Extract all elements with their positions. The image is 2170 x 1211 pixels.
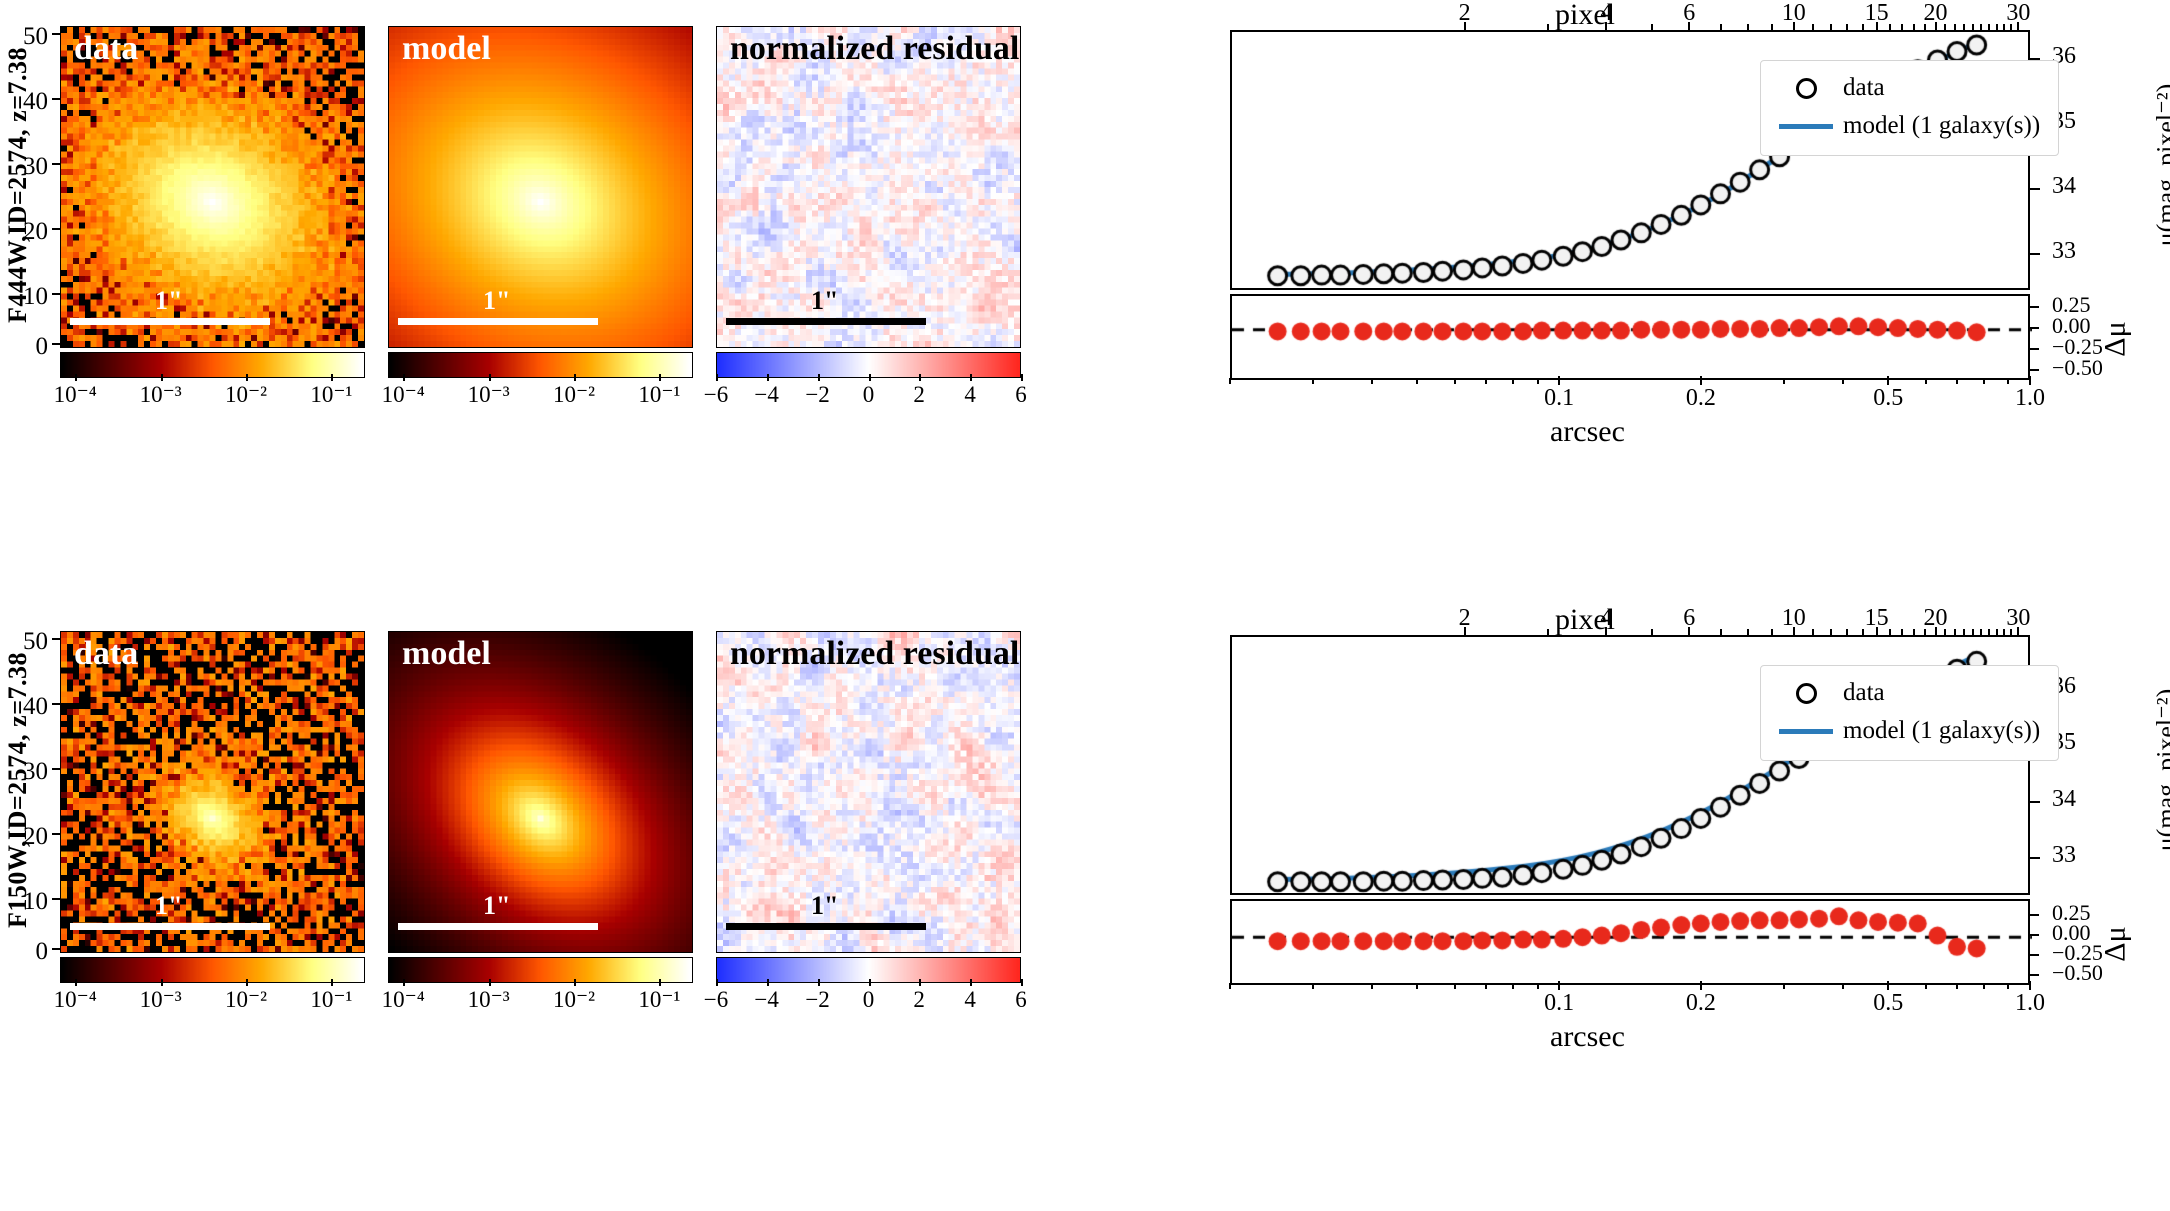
mu-tickmark xyxy=(2030,801,2040,803)
arcsec-minor-tickmark xyxy=(1887,983,1889,989)
arcsec-minor-tickmark xyxy=(1558,983,1560,989)
residual-y-axis-label-f444w: Δμ xyxy=(2099,321,2133,356)
scalebar-label-model-2: 1" xyxy=(483,891,510,921)
arcsec-minor-tickmark xyxy=(1558,378,1560,384)
arcsec-minor-tickmark xyxy=(1700,378,1702,384)
arcsec-minor-tickmark xyxy=(1371,983,1373,989)
colorbar-model-ticks-f444w: 10⁻⁴ 10⁻³ 10⁻² 10⁻¹ xyxy=(388,382,693,416)
arcsec-minor-tickmark xyxy=(2007,378,2009,384)
arcsec-tick-0.2: 0.2 xyxy=(1686,385,1716,412)
ytick-0: 0 xyxy=(2,333,48,361)
colorbar-tickmark xyxy=(574,979,576,986)
arcsec-minor-tickmark xyxy=(1454,983,1456,989)
model-image-panel-f150w[interactable] xyxy=(388,631,693,953)
profile-bottom-axis-label-f444w: arcsec xyxy=(1550,415,1625,449)
colorbar-data-f444w xyxy=(60,352,365,378)
dmu-tickmark xyxy=(2030,327,2039,329)
arcsec-tick-1: 1.0 xyxy=(2015,990,2045,1017)
residual-plot-f444w[interactable] xyxy=(1230,294,2030,380)
ytick2-0: 0 xyxy=(2,938,48,966)
dmu-tickmark xyxy=(2030,974,2039,976)
arcsec-tick-0.5: 0.5 xyxy=(1873,385,1903,412)
arcsec-minor-tickmark xyxy=(1983,983,1985,989)
colorbar-tickmark xyxy=(75,979,77,986)
colorbar-tickmark xyxy=(818,374,820,381)
colorbar-tickmark xyxy=(716,374,718,381)
scalebar-residual-2 xyxy=(726,923,926,930)
arcsec-tick-1: 1.0 xyxy=(2015,385,2045,412)
arcsec-minor-tickmark xyxy=(2007,983,2009,989)
colorbar-data-f150w xyxy=(60,957,365,983)
ytick2-40: 40 xyxy=(2,693,48,721)
line-swatch-icon xyxy=(1775,124,1837,129)
mu-tick-33: 33 xyxy=(2052,238,2076,265)
residual-plot-f150w[interactable] xyxy=(1230,899,2030,985)
residual-y-axis-label-f150w: Δμ xyxy=(2099,926,2133,961)
colorbar-tickmark xyxy=(489,979,491,986)
colorbar-tickmark xyxy=(919,374,921,381)
scalebar-label-residual: 1" xyxy=(811,286,838,316)
scalebar-residual xyxy=(726,318,926,325)
profile-legend-f150w: data model (1 galaxy(s)) xyxy=(1760,665,2059,761)
profile-y-axis-label-f444w: μ(mag, pixel⁻²) xyxy=(2151,84,2170,247)
arcsec-minor-tickmark xyxy=(1416,378,1418,384)
arcsec-minor-tickmark xyxy=(1956,378,1958,384)
ytick-40: 40 xyxy=(2,88,48,116)
dmu-tickmark xyxy=(2030,934,2039,936)
scalebar-label-data-2: 1" xyxy=(155,891,182,921)
mu-tick-33: 33 xyxy=(2052,842,2076,869)
data-panel-title: data xyxy=(74,30,138,68)
open-circle-icon xyxy=(1775,683,1837,704)
colorbar-tickmark xyxy=(489,374,491,381)
mu-tickmark xyxy=(2030,857,2040,859)
arcsec-minor-tickmark xyxy=(1887,378,1889,384)
arcsec-minor-tickmark xyxy=(1783,378,1785,384)
colorbar-tickmark xyxy=(75,374,77,381)
legend-item-model-2: model (1 galaxy(s)) xyxy=(1775,712,2040,750)
arcsec-minor-tickmark xyxy=(1956,983,1958,989)
colorbar-tickmark xyxy=(403,374,405,381)
arcsec-minor-tickmark xyxy=(1783,983,1785,989)
arcsec-minor-tickmark xyxy=(1485,983,1487,989)
arcsec-minor-tickmark xyxy=(1925,378,1927,384)
colorbar-tickmark xyxy=(818,979,820,986)
scalebar-model-2 xyxy=(398,923,598,930)
colorbar-residual-ticks-f444w: −6 −4 −2 0 2 4 6 xyxy=(716,382,1021,416)
legend-item-data: data xyxy=(1775,69,2040,107)
ytick2-20: 20 xyxy=(2,823,48,851)
colorbar-tickmark xyxy=(919,979,921,986)
arcsec-tick-0.1: 0.1 xyxy=(1544,990,1574,1017)
arcsec-minor-tickmark xyxy=(2029,983,2031,989)
dmu-tickmark xyxy=(2030,954,2039,956)
arcsec-minor-tickmark xyxy=(1925,983,1927,989)
arcsec-minor-tickmark xyxy=(1842,378,1844,384)
colorbar-tickmark xyxy=(246,374,248,381)
arcsec-minor-tickmark xyxy=(1229,983,1231,989)
dmu-tick-−0.50: −0.50 xyxy=(2052,355,2103,381)
residual-image-panel-f444w[interactable] xyxy=(716,26,1021,348)
colorbar-model-f444w xyxy=(388,352,693,378)
model-image-panel-f444w[interactable] xyxy=(388,26,693,348)
colorbar-tickmark xyxy=(246,979,248,986)
colorbar-data-ticks-f150w: 10⁻⁴ 10⁻³ 10⁻² 10⁻¹ xyxy=(60,987,365,1021)
dmu-tick-−0.50: −0.50 xyxy=(2052,960,2103,986)
colorbar-residual-ticks-f150w: −6 −4 −2 0 2 4 6 xyxy=(716,987,1021,1021)
mu-tickmark xyxy=(2030,253,2040,255)
mu-tick-34: 34 xyxy=(2052,173,2076,200)
arcsec-minor-tickmark xyxy=(1983,378,1985,384)
colorbar-tickmark xyxy=(331,979,333,986)
legend-item-model: model (1 galaxy(s)) xyxy=(1775,107,2040,145)
dmu-tickmark xyxy=(2030,348,2039,350)
arcsec-minor-tickmark xyxy=(1512,983,1514,989)
arcsec-minor-tickmark xyxy=(1229,378,1231,384)
arcsec-minor-tickmark xyxy=(1842,983,1844,989)
arcsec-tick-0.5: 0.5 xyxy=(1873,990,1903,1017)
legend-item-data-2: data xyxy=(1775,674,2040,712)
arcsec-minor-tickmark xyxy=(1700,983,1702,989)
ytick2-10: 10 xyxy=(2,888,48,916)
dmu-tickmark xyxy=(2030,369,2039,371)
colorbar-model-ticks-f150w: 10⁻⁴ 10⁻³ 10⁻² 10⁻¹ xyxy=(388,987,693,1021)
scalebar-label-residual-2: 1" xyxy=(811,891,838,921)
scalebar-model xyxy=(398,318,598,325)
ytick-20: 20 xyxy=(2,218,48,246)
mu-tickmark xyxy=(2030,188,2040,190)
arcsec-tick-0.2: 0.2 xyxy=(1686,990,1716,1017)
data-panel-title-2: data xyxy=(74,635,138,673)
colorbar-tickmark xyxy=(161,374,163,381)
colorbar-tickmark xyxy=(331,374,333,381)
dmu-tickmark xyxy=(2030,914,2039,916)
arcsec-minor-tickmark xyxy=(1485,378,1487,384)
ytick-30: 30 xyxy=(2,153,48,181)
ytick-10: 10 xyxy=(2,283,48,311)
colorbar-tickmark xyxy=(716,979,718,986)
colorbar-tickmark xyxy=(161,979,163,986)
data-image-panel-f150w[interactable] xyxy=(60,631,365,953)
colorbar-tickmark xyxy=(970,979,972,986)
colorbar-tickmark xyxy=(767,979,769,986)
scalebar-label-model: 1" xyxy=(483,286,510,316)
arcsec-minor-tickmark xyxy=(1371,378,1373,384)
residual-image-panel-f150w[interactable] xyxy=(716,631,1021,953)
model-panel-title-2: model xyxy=(402,635,491,673)
residual-panel-title-2: normalized residual xyxy=(730,635,1019,673)
ytick-50: 50 xyxy=(2,23,48,51)
dmu-tickmark xyxy=(2030,306,2039,308)
scalebar-data xyxy=(70,318,270,325)
profile-bottom-axis-label-f150w: arcsec xyxy=(1550,1020,1625,1054)
colorbar-data-ticks-f444w: 10⁻⁴ 10⁻³ 10⁻² 10⁻¹ xyxy=(60,382,365,416)
model-panel-title: model xyxy=(402,30,491,68)
colorbar-tickmark xyxy=(869,374,871,381)
arcsec-minor-tickmark xyxy=(1312,983,1314,989)
colorbar-model-f150w xyxy=(388,957,693,983)
colorbar-tickmark xyxy=(659,979,661,986)
data-image-panel-f444w[interactable] xyxy=(60,26,365,348)
scalebar-label-data: 1" xyxy=(155,286,182,316)
colorbar-tickmark xyxy=(869,979,871,986)
arcsec-minor-tickmark xyxy=(1454,378,1456,384)
colorbar-tickmark xyxy=(767,374,769,381)
colorbar-tickmark xyxy=(403,979,405,986)
row-f444w: F444W,ID=2574, z=7.38 50 40 30 20 10 0 d… xyxy=(0,0,2170,600)
mu-tick-34: 34 xyxy=(2052,786,2076,813)
figure-root: F444W,ID=2574, z=7.38 50 40 30 20 10 0 d… xyxy=(0,0,2170,1211)
arcsec-minor-tickmark xyxy=(1312,378,1314,384)
ytick2-30: 30 xyxy=(2,758,48,786)
colorbar-tickmark xyxy=(574,374,576,381)
open-circle-icon xyxy=(1775,78,1837,99)
colorbar-tickmark xyxy=(1021,374,1023,381)
ytick2-50: 50 xyxy=(2,628,48,656)
line-swatch-icon xyxy=(1775,729,1837,734)
colorbar-tickmark xyxy=(1021,979,1023,986)
arcsec-tick-0.1: 0.1 xyxy=(1544,385,1574,412)
colorbar-tickmark xyxy=(659,374,661,381)
arcsec-minor-tickmark xyxy=(2029,378,2031,384)
profile-y-axis-label-f150w: μ(mag, pixel⁻²) xyxy=(2151,689,2170,852)
colorbar-tickmark xyxy=(970,374,972,381)
residual-panel-title: normalized residual xyxy=(730,30,1019,68)
scalebar-data-2 xyxy=(70,923,270,930)
arcsec-minor-tickmark xyxy=(1537,378,1539,384)
row-f150w: F150W,ID=2574, z=7.38 50 40 30 20 10 0 d… xyxy=(0,605,2170,1205)
arcsec-minor-tickmark xyxy=(1512,378,1514,384)
arcsec-minor-tickmark xyxy=(1537,983,1539,989)
arcsec-minor-tickmark xyxy=(1416,983,1418,989)
profile-legend-f444w: data model (1 galaxy(s)) xyxy=(1760,60,2059,156)
